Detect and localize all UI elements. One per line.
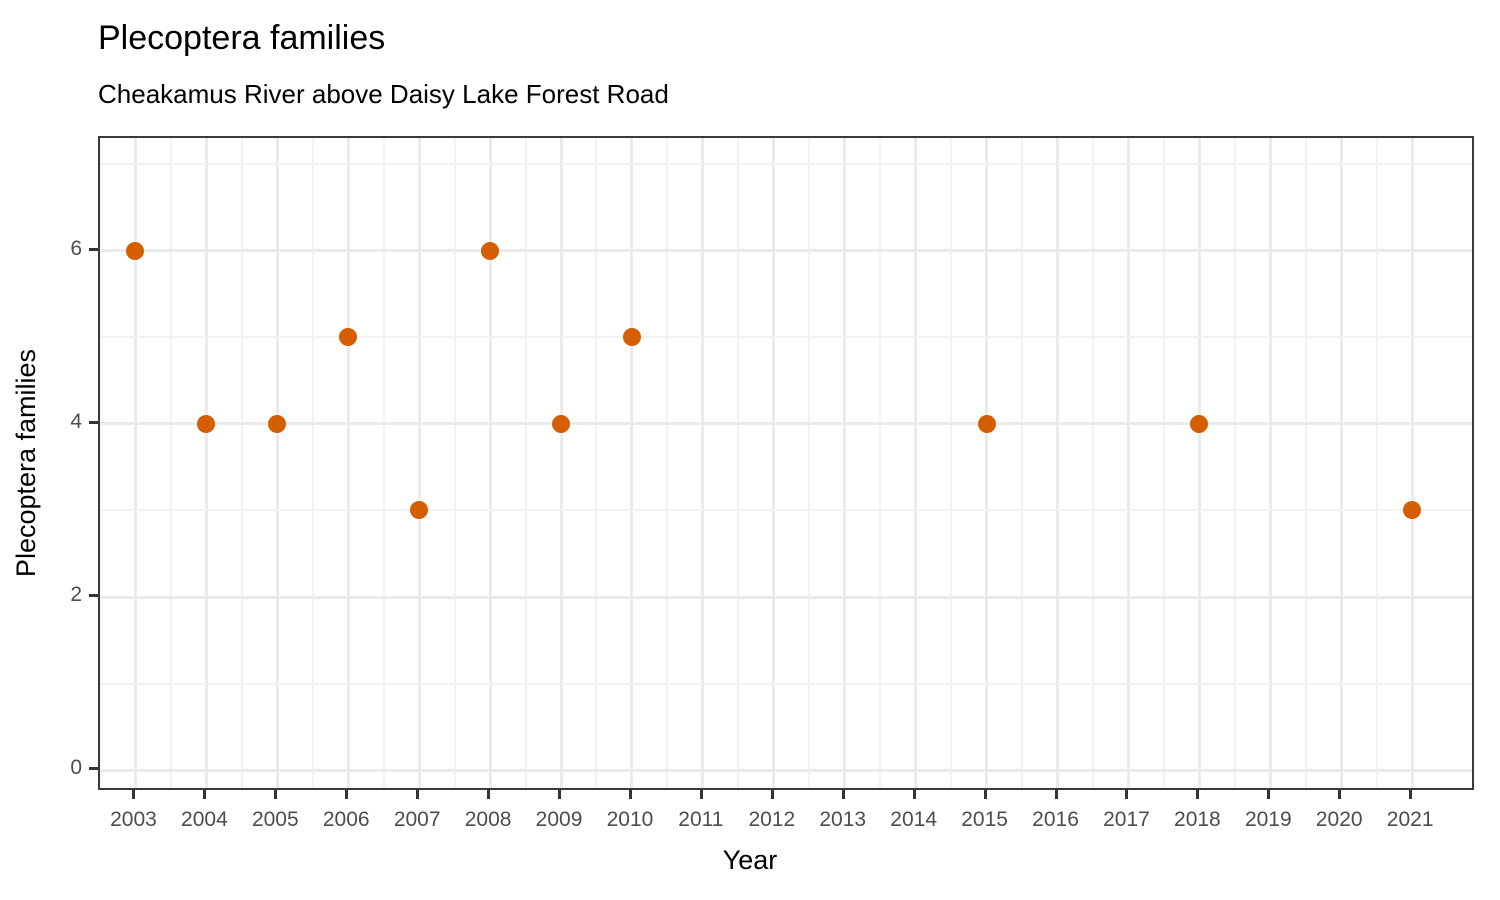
data-point	[1190, 415, 1208, 433]
data-point	[410, 501, 428, 519]
gridline-vertical-minor	[241, 138, 243, 788]
y-axis-tick	[89, 594, 98, 597]
gridline-vertical-minor	[950, 138, 952, 788]
chart-figure: Plecoptera families Cheakamus River abov…	[0, 0, 1500, 900]
x-axis-tick-label: 2007	[377, 807, 457, 833]
gridline-vertical-minor	[312, 138, 314, 788]
gridline-vertical	[1340, 138, 1343, 788]
y-axis-tick-label: 2	[46, 582, 82, 608]
x-axis-tick	[700, 790, 703, 799]
data-point	[126, 242, 144, 260]
y-axis-title: Plecoptera families	[8, 136, 44, 790]
x-axis-tick-label: 2014	[874, 807, 954, 833]
x-axis-tick	[771, 790, 774, 799]
x-axis-tick-label: 2018	[1157, 807, 1237, 833]
data-point	[623, 328, 641, 346]
gridline-vertical-minor	[170, 138, 172, 788]
x-axis-tick	[1338, 790, 1341, 799]
x-axis-tick-label: 2003	[93, 807, 173, 833]
gridline-horizontal	[100, 249, 1472, 252]
data-point	[1403, 501, 1421, 519]
gridline-vertical	[560, 138, 563, 788]
gridline-vertical-minor	[737, 138, 739, 788]
x-axis-tick-label: 2004	[164, 807, 244, 833]
gridline-vertical-minor	[808, 138, 810, 788]
gridline-vertical-minor	[1092, 138, 1094, 788]
x-axis-tick-label: 2013	[803, 807, 883, 833]
x-axis-tick-label: 2008	[448, 807, 528, 833]
x-axis-tick-label: 2017	[1086, 807, 1166, 833]
gridline-vertical	[205, 138, 208, 788]
gridline-vertical	[701, 138, 704, 788]
gridline-vertical-minor	[100, 138, 101, 788]
gridline-vertical-minor	[879, 138, 881, 788]
gridline-horizontal	[100, 596, 1472, 599]
gridline-vertical	[1056, 138, 1059, 788]
y-axis-tick-label: 4	[46, 409, 82, 435]
gridline-vertical	[843, 138, 846, 788]
gridline-horizontal-minor	[100, 336, 1472, 338]
gridline-vertical	[134, 138, 137, 788]
x-axis-tick	[1196, 790, 1199, 799]
x-axis-tick	[274, 790, 277, 799]
x-axis-tick	[132, 790, 135, 799]
gridline-vertical	[489, 138, 492, 788]
x-axis-tick	[1055, 790, 1058, 799]
gridline-vertical	[1127, 138, 1130, 788]
gridline-vertical	[347, 138, 350, 788]
y-axis-tick	[89, 248, 98, 251]
y-axis-tick-label: 0	[46, 755, 82, 781]
gridline-vertical-minor	[666, 138, 668, 788]
gridline-horizontal-minor	[100, 163, 1472, 165]
data-point	[197, 415, 215, 433]
gridline-vertical	[985, 138, 988, 788]
data-point	[481, 242, 499, 260]
y-axis-tick	[89, 421, 98, 424]
x-axis-tick-label: 2016	[1016, 807, 1096, 833]
x-axis-tick	[842, 790, 845, 799]
x-axis-tick	[984, 790, 987, 799]
x-axis-tick-label: 2021	[1370, 807, 1450, 833]
x-axis-tick	[487, 790, 490, 799]
data-point	[339, 328, 357, 346]
x-axis-tick-label: 2006	[306, 807, 386, 833]
plot-panel	[98, 136, 1474, 790]
chart-subtitle: Cheakamus River above Daisy Lake Forest …	[98, 78, 669, 110]
gridline-vertical	[276, 138, 279, 788]
gridline-vertical-minor	[1376, 138, 1378, 788]
gridline-vertical	[772, 138, 775, 788]
x-axis-tick-label: 2010	[590, 807, 670, 833]
x-axis-title: Year	[0, 843, 1500, 877]
x-axis-tick	[1267, 790, 1270, 799]
y-axis-tick-label: 6	[46, 236, 82, 262]
y-axis-tick	[89, 767, 98, 770]
x-axis-tick-label: 2019	[1228, 807, 1308, 833]
gridline-vertical-minor	[1163, 138, 1165, 788]
gridline-horizontal	[100, 769, 1472, 772]
x-axis-tick	[416, 790, 419, 799]
gridline-vertical	[630, 138, 633, 788]
x-axis-tick-label: 2005	[235, 807, 315, 833]
plot-panel-inner	[100, 138, 1472, 788]
gridline-vertical-minor	[525, 138, 527, 788]
gridline-vertical	[1198, 138, 1201, 788]
gridline-vertical-minor	[1305, 138, 1307, 788]
data-point	[978, 415, 996, 433]
gridline-vertical-minor	[454, 138, 456, 788]
gridline-horizontal-minor	[100, 509, 1472, 511]
x-axis-tick	[1125, 790, 1128, 799]
x-axis-tick-label: 2012	[732, 807, 812, 833]
data-point	[268, 415, 286, 433]
data-point	[552, 415, 570, 433]
gridline-vertical-minor	[595, 138, 597, 788]
gridline-vertical-minor	[1234, 138, 1236, 788]
gridline-vertical	[418, 138, 421, 788]
x-axis-tick-label: 2009	[519, 807, 599, 833]
x-axis-tick	[913, 790, 916, 799]
x-axis-tick	[558, 790, 561, 799]
x-axis-tick-label: 2020	[1299, 807, 1379, 833]
gridline-horizontal	[100, 422, 1472, 425]
x-axis-tick-label: 2015	[945, 807, 1025, 833]
gridline-vertical	[914, 138, 917, 788]
gridline-vertical	[1269, 138, 1272, 788]
x-axis-tick-label: 2011	[661, 807, 741, 833]
gridline-vertical-minor	[1021, 138, 1023, 788]
gridline-vertical	[1411, 138, 1414, 788]
x-axis-tick	[345, 790, 348, 799]
gridline-vertical-minor	[383, 138, 385, 788]
x-axis-tick	[629, 790, 632, 799]
gridline-horizontal-minor	[100, 683, 1472, 685]
x-axis-tick	[203, 790, 206, 799]
x-axis-tick	[1409, 790, 1412, 799]
chart-title: Plecoptera families	[98, 18, 385, 58]
